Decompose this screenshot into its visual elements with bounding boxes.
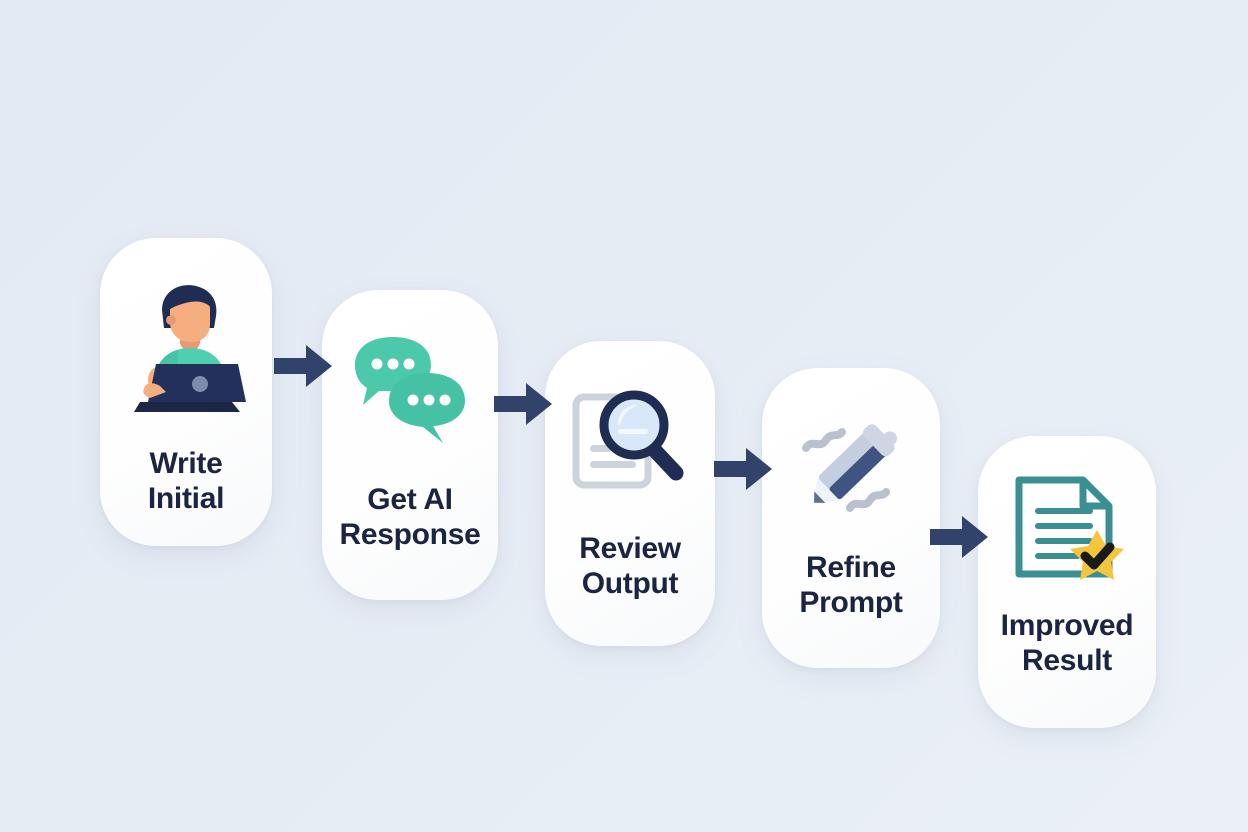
chat-bubbles-icon [322,290,498,470]
step-card-label: Review Output [545,531,715,602]
step-label-line-1: Refine [806,551,896,584]
step-card-get-ai-response[interactable]: Get AI Response [322,290,498,600]
arrow-right-icon [492,378,554,430]
step-card-review-output[interactable]: Review Output [545,341,715,646]
pencil-edit-icon [762,368,940,540]
step-label-line-1: Write [150,447,223,480]
step-label-line-1: Review [579,532,681,565]
step-card-label: Get AI Response [322,482,498,553]
workflow-diagram: Write Initial Get AI Response [0,0,1248,832]
document-star-icon [978,436,1156,598]
step-card-improved-result[interactable]: Improved Result [978,436,1156,728]
document-magnifier-icon [545,341,715,517]
arrow-right-icon [928,511,990,563]
step-card-label: Improved Result [978,608,1156,679]
step-label-line-2: Output [582,567,679,600]
step-label-line-2: Response [340,518,481,551]
step-card-label: Write Initial [100,446,272,517]
arrow-right-icon [712,443,774,495]
arrow-right-icon [272,340,334,392]
step-label-line-2: Prompt [799,586,902,619]
step-label-line-2: Initial [148,482,224,515]
step-card-label: Refine Prompt [762,550,940,621]
step-label-line-1: Get AI [367,483,452,516]
step-card-refine-prompt[interactable]: Refine Prompt [762,368,940,668]
step-label-line-1: Improved [1001,609,1134,642]
step-card-write-initial[interactable]: Write Initial [100,238,272,546]
step-label-line-2: Result [1022,644,1112,677]
person-laptop-icon [100,238,272,432]
